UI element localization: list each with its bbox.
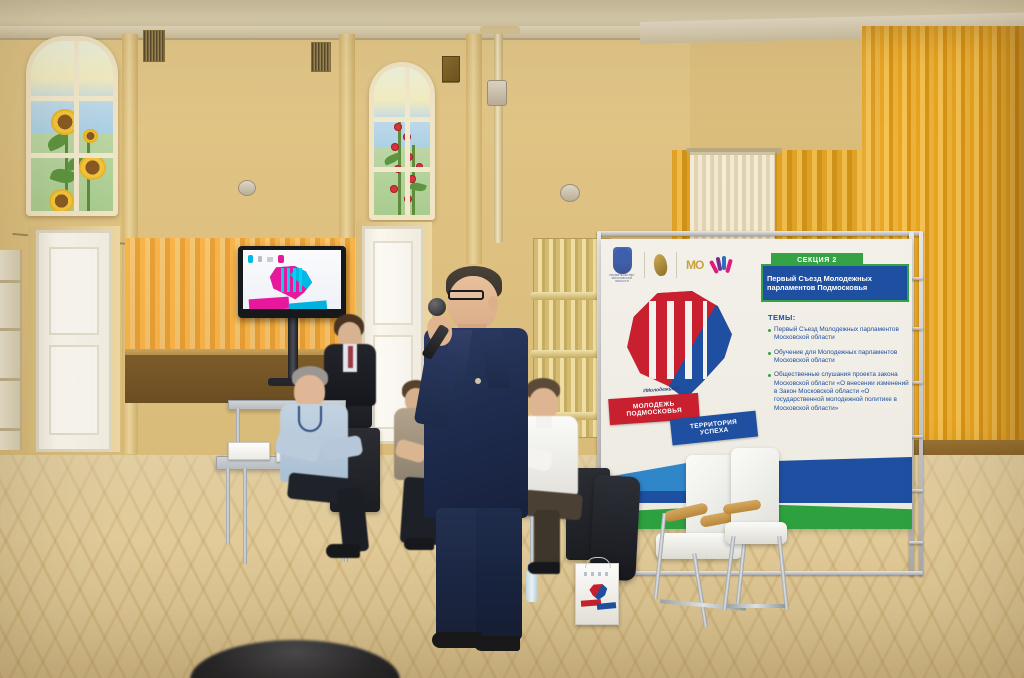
photo-scene: ПРАВИТЕЛЬСТВО МОСКОВСКОЙ ОБЛАСТИ МО #Мол… [0, 0, 1024, 678]
banner-themes-heading: ТЕМЫ: [768, 313, 910, 322]
youth-podmoskovya-logo-icon [712, 254, 732, 276]
banner-hashtag: #МолодежьМО [643, 386, 680, 395]
mural-red-flower [391, 143, 399, 151]
podmoskovye-map-logo-icon [625, 291, 733, 399]
bag-logo-icon [589, 584, 608, 600]
banner-title-block: Первый Съезд Молодежных парламентов Подм… [761, 264, 909, 302]
door-panel [49, 345, 99, 435]
wall-speaker [560, 184, 580, 202]
table-leg [243, 468, 247, 564]
door-panel [373, 241, 413, 325]
bullet-icon [768, 374, 771, 377]
wall-speaker [238, 180, 256, 196]
banner-themes-block: ТЕМЫ: Первый Съезд Молодежных парламенто… [768, 313, 910, 419]
government-moscow-region-emblem-icon: ПРАВИТЕЛЬСТВО МОСКОВСКОЙ ОБЛАСТИ [609, 247, 635, 284]
wall-pipe [494, 28, 503, 243]
name-card-left [228, 442, 270, 460]
tv-screen [243, 250, 341, 309]
mural-ground [374, 147, 430, 215]
speaker-leg-left [436, 508, 480, 638]
shelf-divider [0, 328, 22, 331]
water-bottle [526, 570, 538, 602]
door-panel [49, 247, 99, 335]
tv-slide-tag-cyan [289, 300, 328, 309]
window-mullion [31, 153, 113, 158]
banner-theme-item: Общественные слушания проекта закона Мос… [768, 371, 910, 413]
shelf-divider [0, 428, 22, 431]
sunflower-window-mural [26, 36, 118, 216]
banner-org-logos: ПРАВИТЕЛЬСТВО МОСКОВСКОЙ ОБЛАСТИ МО [609, 245, 759, 285]
banner-tag-blue-line2: УСПЕХА [700, 427, 729, 437]
lapel-pin-icon [475, 378, 481, 384]
banner-section-text: СЕКЦИЯ 2 [797, 257, 837, 264]
tv-slide-tag-magenta [249, 297, 290, 309]
speaker-shoe-right [474, 636, 520, 651]
mural-red-flower [394, 123, 402, 131]
banner-theme-text: Первый Съезд Молодежных парламентов Моск… [774, 326, 910, 343]
tie [348, 346, 353, 368]
ventilation-grille [143, 30, 165, 62]
event-gift-bag [575, 563, 619, 625]
mural-sunflower [79, 155, 106, 180]
banner-theme-item: Первый Съезд Молодежных парламентов Моск… [768, 326, 910, 343]
shoe [404, 538, 434, 550]
bag-tag-blue [597, 602, 616, 610]
ventilation-grille [311, 42, 331, 72]
logo-divider [644, 252, 645, 278]
mural-red-flower [390, 185, 398, 193]
wall-pilaster [466, 34, 482, 264]
red-flower-window-mural [369, 62, 435, 220]
window-mullion [405, 67, 410, 215]
speaker-leg-right [476, 508, 522, 640]
mural-sunflower [49, 189, 74, 213]
chair-backrest [731, 448, 779, 528]
frame-bar-top [597, 231, 923, 236]
shoe [528, 562, 560, 574]
emblem-shield-icon [613, 247, 632, 274]
mo-monogram-logo-icon: МО [686, 258, 703, 272]
window-mullion [74, 41, 79, 211]
wall-plaque [442, 56, 460, 82]
bag-top-logos [584, 572, 612, 576]
presentation-tv[interactable] [238, 246, 346, 318]
window-mullion [31, 96, 113, 101]
pipe-bracket [480, 26, 520, 34]
tv-slide-logo-row [248, 255, 284, 263]
banner-theme-item: Обучение для Молодежных парламентов Моск… [768, 349, 910, 366]
banner-title-inner: Первый Съезд Молодежных парламентов Подм… [763, 266, 907, 300]
window-mullion [374, 167, 430, 172]
banner-theme-text: Общественные слушания проекта закона Мос… [774, 371, 910, 413]
banner-theme-text: Обучение для Молодежных парламентов Моск… [774, 349, 910, 366]
emblem-caption: ПРАВИТЕЛЬСТВО МОСКОВСКОЙ ОБЛАСТИ [609, 274, 635, 284]
ear [488, 296, 498, 310]
table-leg [226, 468, 230, 544]
bullet-icon [768, 329, 771, 332]
collar [536, 416, 552, 428]
shelf-divider [0, 378, 22, 381]
glasses-icon [448, 290, 484, 300]
leg [534, 510, 560, 568]
white-door-left[interactable] [36, 230, 112, 452]
microphone-head-icon [428, 298, 446, 316]
wall-speaker [487, 80, 507, 106]
shelf-divider [0, 280, 22, 283]
map-figures-icon [649, 301, 707, 379]
window-mullion [374, 117, 430, 122]
chair-leg-bar [727, 604, 785, 608]
lanyard [298, 406, 322, 432]
logo-divider [676, 252, 677, 278]
shoe [326, 544, 360, 558]
banner-title-text: Первый Съезд Молодежных парламентов Подм… [767, 274, 903, 293]
bullet-icon [768, 352, 771, 355]
bag-handle [585, 557, 611, 568]
frame-bar-right-outer [919, 231, 923, 576]
wall-shelf-unit [0, 250, 22, 450]
gold-flame-logo-icon [653, 253, 669, 277]
tv-slide-people [281, 268, 303, 292]
mural-sky [374, 67, 430, 153]
mural-sunflower [83, 129, 98, 143]
frame-bar-bottom [597, 571, 923, 575]
frame-rung [909, 541, 923, 544]
